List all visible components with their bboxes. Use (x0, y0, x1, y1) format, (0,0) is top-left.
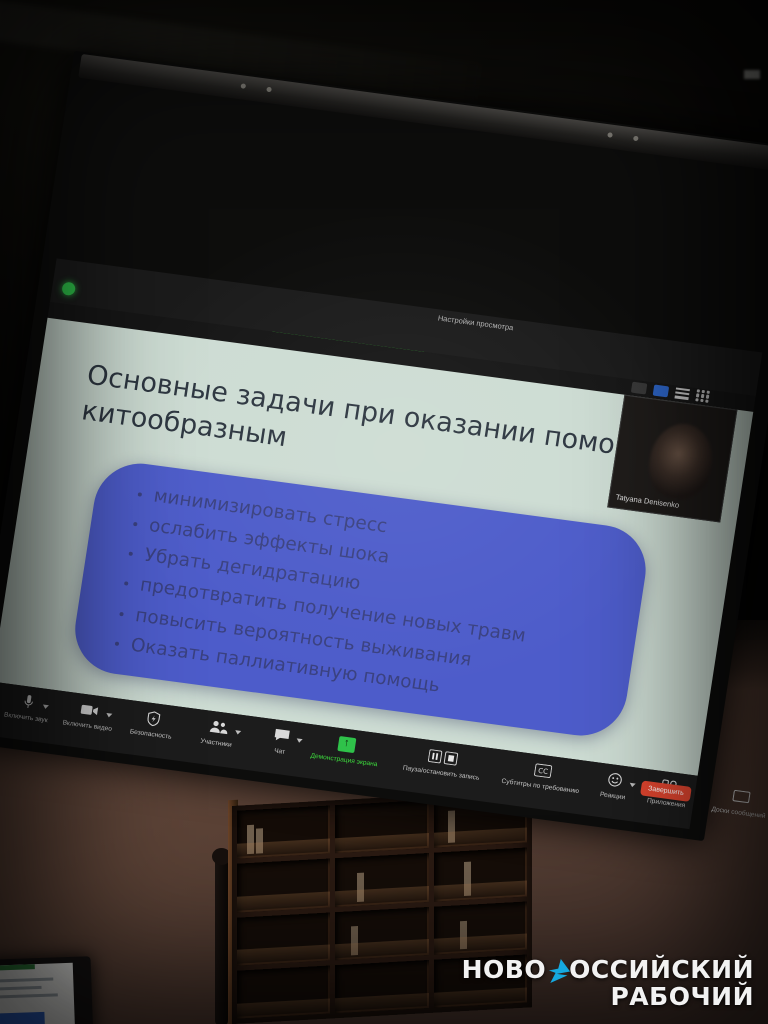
toolbar-share-screen-button[interactable]: ↑ Демонстрация экрана (296, 729, 396, 771)
speaker-view-icon[interactable] (653, 384, 670, 397)
slide-bullet-box: минимизировать стресс ослабить эффекты ш… (69, 458, 652, 741)
shelf-cell (237, 912, 330, 965)
svg-text:CC: CC (537, 766, 548, 775)
watermark-line1-b: ОССИЙСКИЙ (569, 955, 754, 984)
gallery-rows-icon[interactable] (675, 387, 691, 400)
wall-marking (744, 70, 760, 79)
watermark-line2: РАБОЧИЙ (462, 983, 754, 1010)
shelf-cell (434, 848, 527, 901)
toolbar-captions-button[interactable]: CC Субтитры по требованию (488, 754, 596, 797)
chevron-up-icon[interactable] (106, 713, 113, 718)
shelf-cell (237, 965, 330, 1018)
chevron-up-icon[interactable] (42, 705, 49, 710)
shelf-cell (335, 853, 428, 906)
toolbar-pause-recording-button[interactable]: Пауза/остановить запись (387, 741, 499, 785)
watermark: НОВООССИЙСКИЙ РАБОЧИЙ (462, 956, 754, 1010)
watermark-line1-a: НОВО (462, 955, 546, 984)
projection-screen: Настройки просмотра Вы просматриваете эк… (0, 51, 768, 841)
shelf-post (215, 855, 228, 1024)
sail-dolphin-icon (548, 959, 570, 983)
slide-bullet-list: минимизировать стресс ослабить эффекты ш… (107, 479, 672, 729)
photo-scene: Настройки просмотра Вы просматриваете эк… (0, 0, 768, 1024)
shelf-cell (335, 800, 428, 853)
chevron-up-icon[interactable] (235, 730, 242, 735)
grid-view-icon[interactable] (695, 389, 710, 404)
shelf-cell (434, 901, 527, 954)
laptop (0, 956, 93, 1024)
laptop-screen (0, 963, 75, 1024)
participant-avatar (644, 420, 717, 503)
participant-thumbnail[interactable]: Tatyana Denisenko (607, 395, 737, 523)
shelf-cell (237, 859, 330, 912)
shelf-cell (237, 806, 330, 859)
shelf-cell (335, 960, 428, 1013)
shelf-cell (335, 907, 428, 960)
minimize-icon[interactable] (631, 381, 648, 394)
